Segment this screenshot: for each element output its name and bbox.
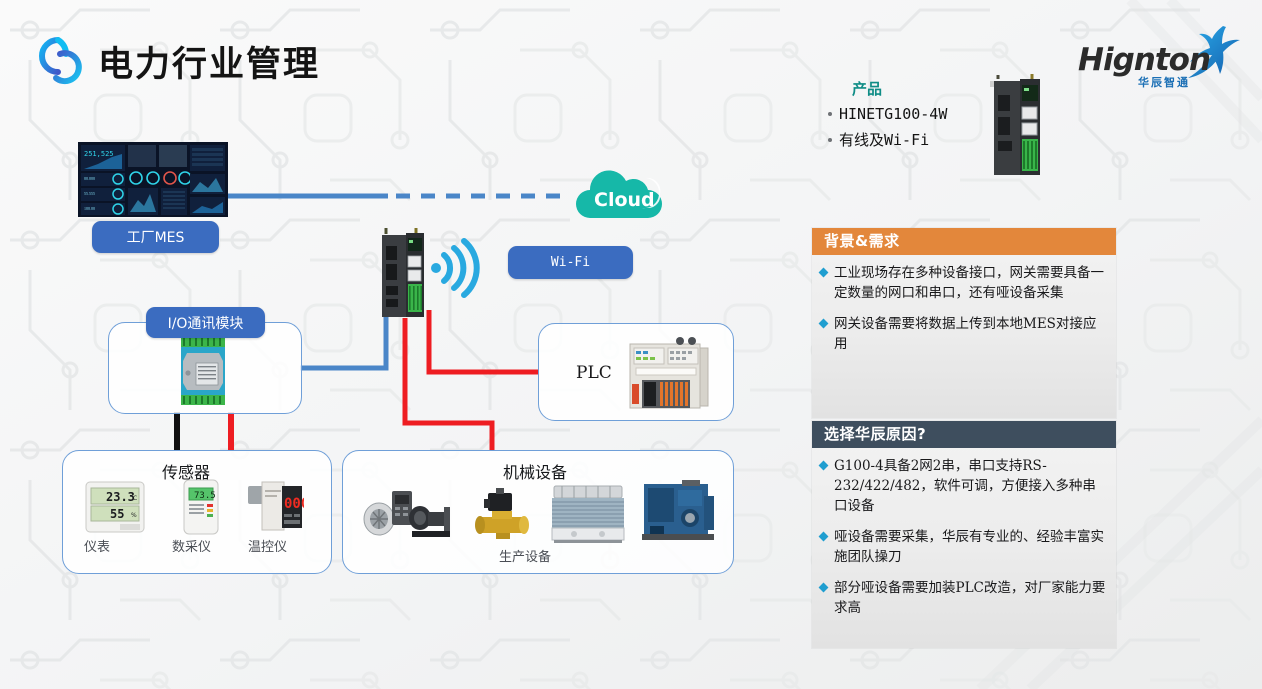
label-factory-mes[interactable]: 工厂MES (92, 221, 219, 253)
boiler-photo (638, 478, 718, 544)
wifi-signal-icon (428, 237, 480, 299)
label-wifi[interactable]: Wi-Fi (508, 246, 633, 279)
cloud-icon: Cloud (568, 168, 668, 224)
gateway-product-photo (988, 73, 1046, 183)
label-text: I/O通讯模块 (168, 313, 244, 333)
io-module-photo (178, 335, 228, 407)
bullet-text: 哑设备需要采集，华辰有专业的、经验丰富实施团队操刀 (834, 527, 1106, 567)
caption-temperature-controller: 温控仪 (248, 536, 287, 555)
label-text: Wi-Fi (551, 255, 590, 270)
company-logo: Hignton 华辰智通 (1076, 20, 1246, 96)
svg-text:Cloud: Cloud (594, 189, 655, 211)
svg-text:55.555: 55.555 (84, 191, 95, 196)
caption-production-equipment: 生产设备 (499, 546, 551, 565)
plc-label: PLC (576, 363, 612, 383)
svg-text:C: C (133, 495, 137, 502)
temperature-controller-photo: 000 (246, 480, 304, 534)
plc-device-photo (628, 336, 710, 412)
caption-meter: 仪表 (84, 536, 110, 555)
panel-body: 工业现场存在多种设备接口，网关需要具备一定数量的网口和串口，还有哑设备采集 网关… (812, 255, 1116, 375)
svg-text:188.88: 188.88 (84, 206, 95, 211)
brand-circles-icon (26, 30, 92, 96)
panel-why-huachen: 选择华辰原因? G100-4具备2网2串，串口支持RS-232/422/482，… (812, 421, 1116, 648)
bullet-text: G100-4具备2网2串，串口支持RS-232/422/482，软件可调，方便接… (834, 456, 1106, 516)
label-io-module[interactable]: I/O通讯模块 (146, 307, 265, 338)
svg-text:251,525: 251,525 (84, 150, 114, 158)
diamond-bullet-icon (819, 461, 829, 471)
svg-text:23.3: 23.3 (106, 490, 135, 504)
diamond-bullet-icon (819, 268, 829, 278)
panel-background-need: 背景&需求 工业现场存在多种设备接口，网关需要具备一定数量的网口和串口，还有哑设… (812, 228, 1116, 418)
mechanical-group-title: 机械设备 (503, 459, 567, 483)
logo-wordmark: Hignton (1078, 42, 1210, 78)
panel-body: G100-4具备2网2串，串口支持RS-232/422/482，软件可调，方便接… (812, 448, 1116, 639)
bullet-item: 部分哑设备需要加装PLC改造，对厂家能力要求高 (820, 578, 1106, 618)
svg-text:%: % (131, 512, 137, 519)
label-text: 工厂MES (127, 227, 185, 247)
bullet-text: 网关设备需要将数据上传到本地MES对接应用 (834, 314, 1106, 354)
diamond-bullet-icon (819, 319, 829, 329)
panel-title: 背景&需求 (812, 228, 1116, 255)
fan-and-pump-photo (362, 485, 454, 543)
page-header: 电力行业管理 Hignton 华辰智通 (0, 0, 1262, 110)
bullet-text: 部分哑设备需要加装PLC改造，对厂家能力要求高 (834, 578, 1106, 618)
svg-text:55: 55 (110, 507, 124, 521)
product-item-label: 有线及Wi-Fi (839, 129, 929, 150)
gateway-device-photo (378, 228, 428, 320)
bullet-item: 网关设备需要将数据上传到本地MES对接应用 (820, 314, 1106, 354)
caption-data-acquisition: 数采仪 (172, 536, 211, 555)
logo-chinese-name: 华辰智通 (1138, 74, 1190, 90)
svg-text:88.888: 88.888 (84, 176, 95, 181)
humidity-temperature-meter-photo: 23.3 C 55 % (84, 480, 146, 534)
product-block: 产品 HINETG100-4W 有线及Wi-Fi (826, 78, 1066, 150)
bullet-item: G100-4具备2网2串，串口支持RS-232/422/482，软件可调，方便接… (820, 456, 1106, 516)
page-title: 电力行业管理 (98, 36, 320, 87)
diamond-bullet-icon (819, 532, 829, 542)
product-item-label: HINETG100-4W (839, 105, 947, 123)
svg-text:000: 000 (284, 496, 304, 512)
diamond-bullet-icon (819, 583, 829, 593)
bullet-item: 工业现场存在多种设备接口，网关需要具备一定数量的网口和串口，还有哑设备采集 (820, 263, 1106, 303)
svg-text:73.5: 73.5 (194, 491, 216, 501)
bullet-item: 哑设备需要采集，华辰有专业的、经验丰富实施团队操刀 (820, 527, 1106, 567)
bullet-text: 工业现场存在多种设备接口，网关需要具备一定数量的网口和串口，还有哑设备采集 (834, 263, 1106, 303)
solenoid-valve-photo (470, 487, 534, 543)
bullet-dot-icon (828, 138, 832, 142)
mes-dashboard-screen: 251,525 88.888 55.555 188.88 (78, 142, 228, 217)
data-acquisition-device-photo: 73.5 (182, 478, 220, 536)
panel-title: 选择华辰原因? (812, 421, 1116, 448)
chiller-unit-photo (548, 482, 628, 544)
bullet-dot-icon (828, 112, 832, 116)
